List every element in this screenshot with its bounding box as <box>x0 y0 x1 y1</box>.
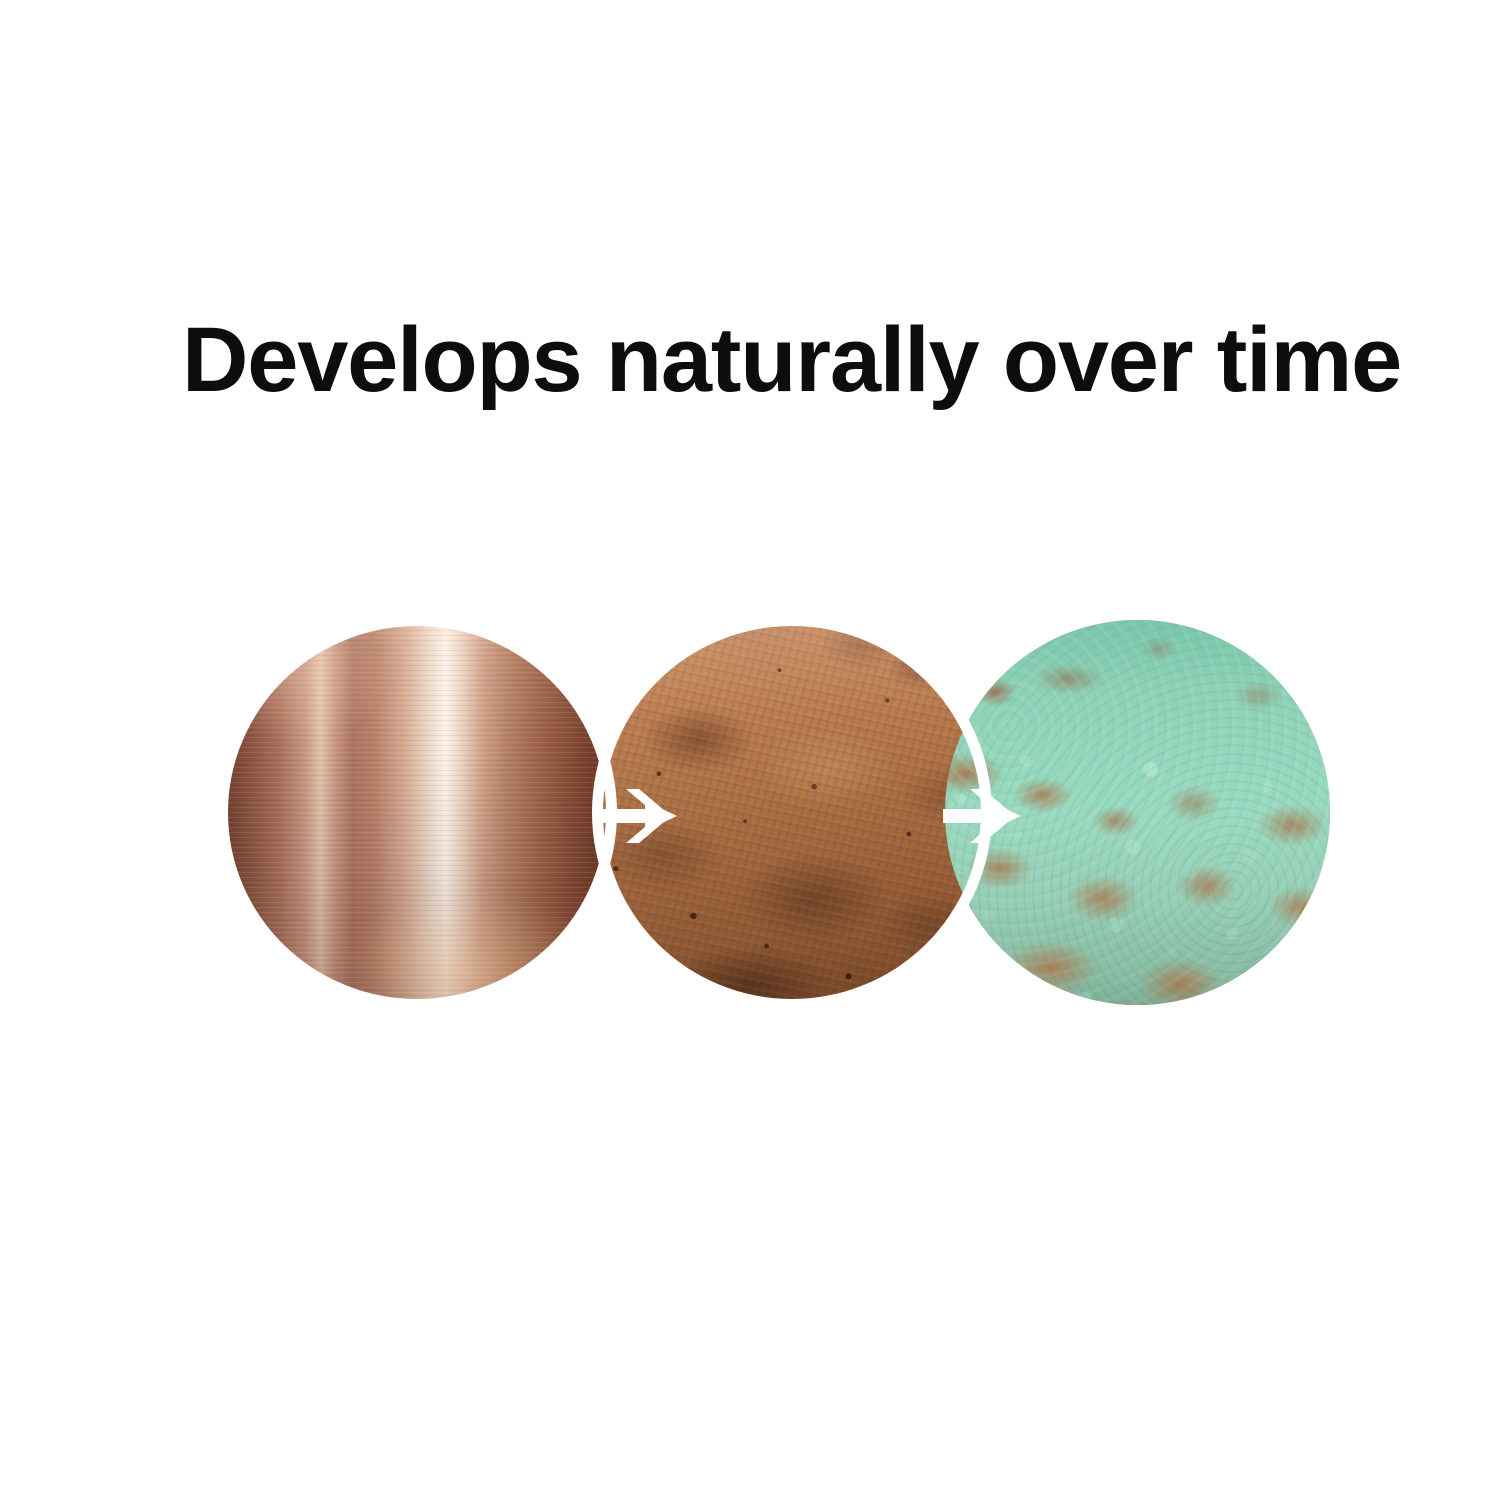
oxide-shading <box>600 620 985 1005</box>
patina-shading <box>945 620 1330 1005</box>
stage-circle-oxidized[interactable] <box>600 620 985 1005</box>
stage-circle-patina[interactable] <box>945 620 1330 1005</box>
patina-progression-diagram <box>225 615 1275 1015</box>
stage-circle-copper[interactable] <box>225 620 610 1005</box>
page-title: Develops naturally over time <box>182 308 1362 412</box>
copper-bloom-highlight <box>225 620 610 1005</box>
slide-canvas: Develops naturally over time <box>0 0 1500 1500</box>
